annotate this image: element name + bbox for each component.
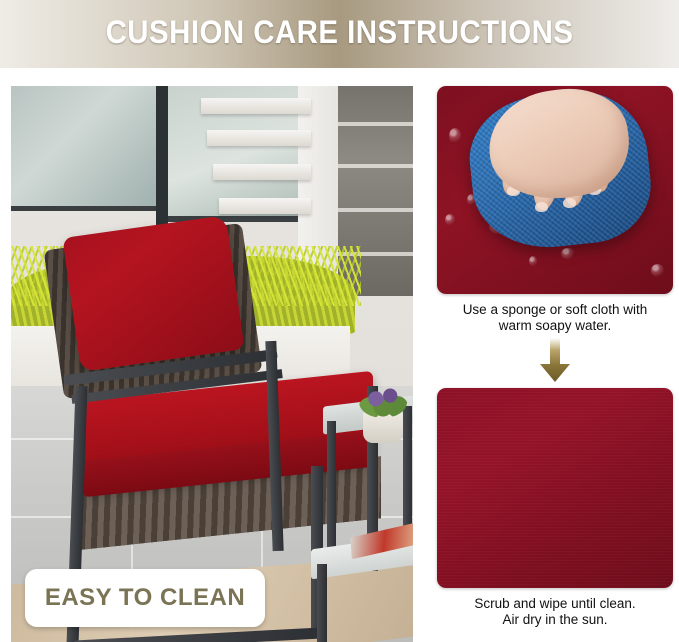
fingernail — [563, 198, 576, 208]
photo-stair-tread — [219, 198, 311, 214]
main-product-photo — [11, 86, 413, 642]
photo-step-line — [338, 122, 413, 126]
easy-to-clean-badge: EASY TO CLEAN — [25, 569, 265, 627]
page-header: CUSHION CARE INSTRUCTIONS — [0, 0, 679, 68]
water-droplet — [445, 214, 455, 226]
step-1-image — [437, 86, 673, 294]
page-title: CUSHION CARE INSTRUCTIONS — [27, 12, 652, 52]
fingernail — [535, 202, 548, 212]
step-2-caption-line-2: Air dry in the sun. — [437, 612, 673, 628]
step-2-image — [437, 388, 673, 588]
down-arrow-icon — [538, 338, 572, 382]
photo-step-line — [338, 164, 413, 168]
water-droplet — [449, 128, 461, 144]
step-2-caption-line-1: Scrub and wipe until clean. — [437, 596, 673, 612]
coffee-table-leg — [317, 564, 327, 642]
potted-plant — [359, 386, 407, 418]
water-droplet — [561, 248, 575, 259]
photo-stair-tread — [213, 164, 311, 180]
photo-window-left — [11, 86, 168, 211]
photo-window-mullion — [156, 86, 168, 236]
photo-stair-tread — [201, 98, 311, 114]
step-1-caption-line-2: warm soapy water. — [437, 318, 673, 334]
step-1-caption: Use a sponge or soft cloth with warm soa… — [437, 302, 673, 334]
step-1-caption-line-1: Use a sponge or soft cloth with — [437, 302, 673, 318]
step-2-caption: Scrub and wipe until clean. Air dry in t… — [437, 596, 673, 628]
chair-back-pillow — [62, 215, 244, 372]
water-droplet — [651, 264, 664, 277]
photo-stair-tread — [207, 130, 311, 146]
side-table-leg — [327, 421, 336, 551]
arrow-container — [437, 338, 673, 382]
easy-to-clean-label: EASY TO CLEAN — [45, 584, 245, 612]
care-steps-column: Use a sponge or soft cloth with warm soa… — [437, 86, 673, 642]
water-droplet — [529, 256, 537, 267]
photo-step-line — [338, 208, 413, 212]
